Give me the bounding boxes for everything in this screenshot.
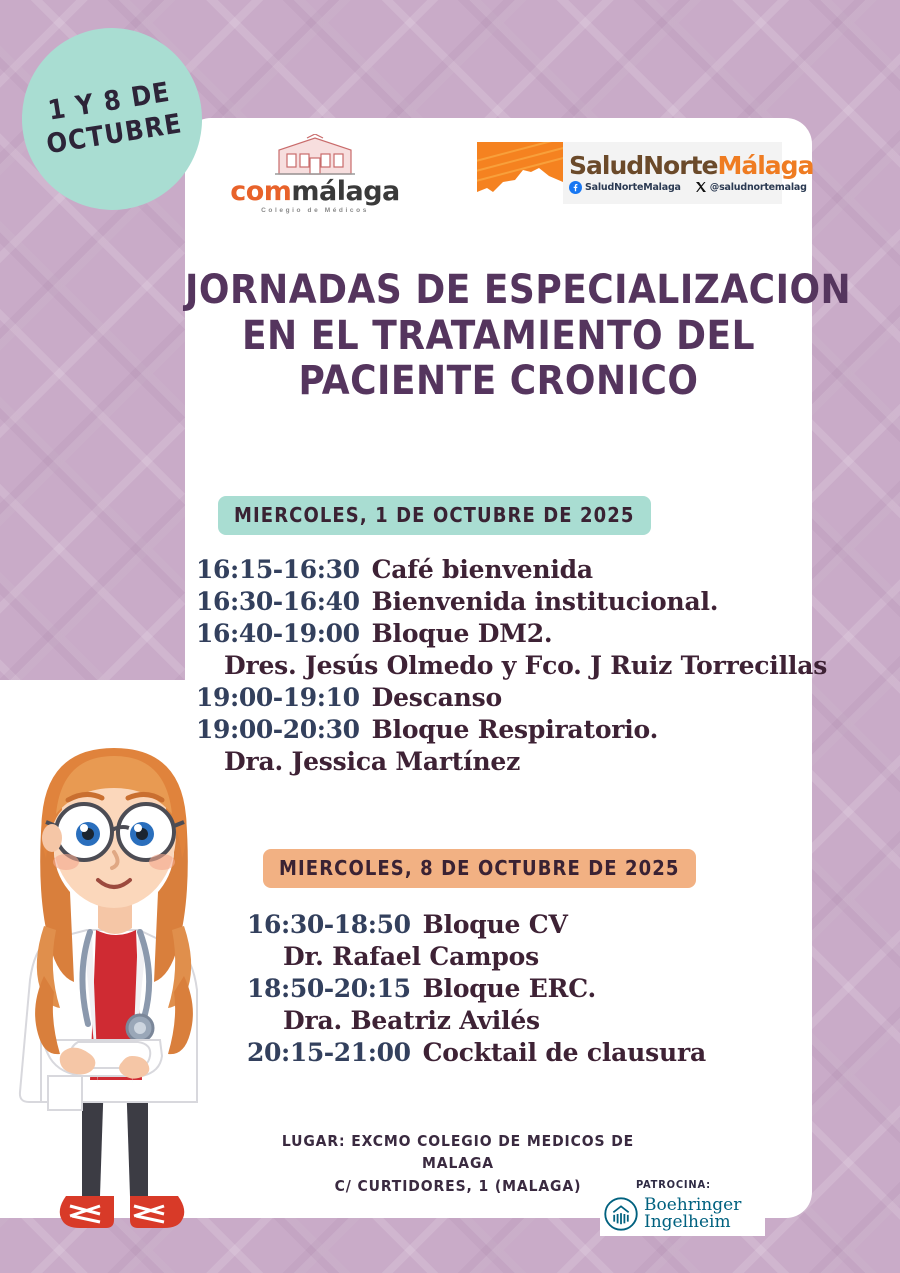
schedule-event: Bloque Respiratorio. — [360, 715, 659, 744]
schedule-row: 16:15-16:30 Café bienvenida — [196, 555, 816, 584]
com-malaga-word-part1: com — [230, 176, 291, 207]
schedule-event: Descanso — [360, 683, 502, 712]
schedule-speaker: Dres. Jesús Olmedo y Fco. J Ruiz Torreci… — [196, 651, 816, 680]
schedule-row: 16:30-16:40 Bienvenida institucional. — [196, 587, 816, 616]
schedule-time: 16:30-18:50 — [247, 910, 411, 939]
schedule-speaker: Dra. Jessica Martínez — [196, 747, 816, 776]
schedule-row: 20:15-21:00 Cocktail de clausura — [247, 1038, 817, 1067]
salud-norte-malaga-logo: SaludNorteMálaga SaludNorteMalaga — [477, 142, 782, 204]
com-malaga-logo: commálaga Colegio de Médicos — [230, 134, 400, 214]
building-icon — [269, 134, 361, 176]
day-2-schedule: 16:30-18:50 Bloque CV Dr. Rafael Campos … — [247, 910, 817, 1070]
schedule-time: 16:30-16:40 — [196, 587, 360, 616]
x-handle-text: @saludnortemalag — [710, 182, 807, 193]
x-twitter-icon — [695, 181, 707, 193]
salud-norte-wordmark: SaludNorteMálaga — [569, 153, 813, 178]
schedule-row: 19:00-20:30 Bloque Respiratorio. — [196, 715, 816, 744]
facebook-handle: SaludNorteMalaga — [569, 181, 681, 194]
schedule-speaker: Dr. Rafael Campos — [247, 942, 817, 971]
salud-title-part2: Málaga — [717, 151, 813, 180]
doctor-illustration — [4, 676, 226, 1256]
day-1-banner: MIERCOLES, 1 DE OCTUBRE DE 2025 — [218, 496, 651, 535]
salud-social-row: SaludNorteMalaga @saludnortemalag — [569, 181, 813, 194]
com-malaga-subtitle: Colegio de Médicos — [261, 207, 369, 214]
title-line-3: PACIENTE CRONICO — [185, 359, 812, 405]
schedule-time: 18:50-20:15 — [247, 974, 411, 1003]
sponsor-name-line-2: Ingelheim — [644, 1214, 741, 1231]
day-1-banner-wrap: MIERCOLES, 1 DE OCTUBRE DE 2025 — [218, 496, 651, 535]
facebook-icon — [569, 181, 582, 194]
schedule-event: Café bienvenida — [360, 555, 593, 584]
venue-line-1: LUGAR: EXCMO COLEGIO DE MEDICOS DE MALAG… — [248, 1130, 668, 1175]
boehringer-ingelheim-logo: Boehringer Ingelheim — [600, 1193, 765, 1236]
schedule-time: 20:15-21:00 — [247, 1038, 411, 1067]
title-line-1: JORNADAS DE ESPECIALIZACION — [185, 268, 812, 314]
schedule-speaker: Dra. Beatriz Avilés — [247, 1006, 817, 1035]
salud-title-part1: SaludNorte — [569, 151, 717, 180]
schedule-row: 16:30-18:50 Bloque CV — [247, 910, 817, 939]
schedule-time: 16:40-19:00 — [196, 619, 360, 648]
com-malaga-wordmark: commálaga — [230, 178, 400, 205]
schedule-event: Bloque DM2. — [360, 619, 553, 648]
schedule-row: 19:00-19:10 Descanso — [196, 683, 816, 712]
schedule-row: 16:40-19:00 Bloque DM2. — [196, 619, 816, 648]
boehringer-mark-icon — [604, 1197, 638, 1231]
com-malaga-word-part2: málaga — [291, 176, 399, 207]
schedule-event: Bienvenida institucional. — [360, 587, 719, 616]
x-handle: @saludnortemalag — [695, 181, 807, 193]
schedule-event: Cocktail de clausura — [411, 1038, 706, 1067]
sponsor-block: PATROCINA: Boehringer Ingelheim — [600, 1178, 765, 1236]
sponsor-label: PATROCINA: — [636, 1178, 765, 1191]
logo-row: commálaga Colegio de Médicos SaludNorteM… — [185, 132, 812, 224]
mountain-photo-icon — [477, 142, 563, 204]
day-2-banner: MIERCOLES, 8 DE OCTUBRE DE 2025 — [263, 849, 696, 888]
schedule-event: Bloque CV — [411, 910, 568, 939]
day-2-banner-wrap: MIERCOLES, 8 DE OCTUBRE DE 2025 — [263, 849, 696, 888]
poster-root: 1 Y 8 DE OCTUBRE — [0, 0, 900, 1273]
page-title: JORNADAS DE ESPECIALIZACION EN EL TRATAM… — [185, 268, 812, 405]
day-1-schedule: 16:15-16:30 Café bienvenida 16:30-16:40 … — [196, 555, 816, 779]
schedule-event: Bloque ERC. — [411, 974, 596, 1003]
schedule-time: 16:15-16:30 — [196, 555, 360, 584]
facebook-handle-text: SaludNorteMalaga — [585, 182, 681, 193]
schedule-row: 18:50-20:15 Bloque ERC. — [247, 974, 817, 1003]
title-line-2: EN EL TRATAMIENTO DEL — [185, 314, 812, 360]
